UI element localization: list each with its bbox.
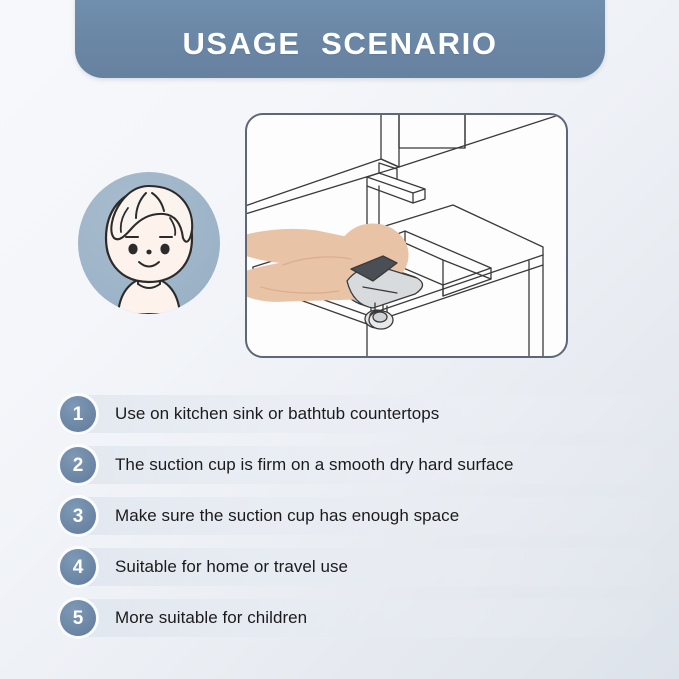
list-item: 4 Suitable for home or travel use [0, 545, 679, 589]
list-number-badge: 1 [60, 396, 96, 432]
header-banner: USAGE SCENARIO [75, 0, 605, 78]
list-item: 1 Use on kitchen sink or bathtub counter… [0, 392, 679, 436]
child-face-icon [78, 172, 220, 314]
usage-list: 1 Use on kitchen sink or bathtub counter… [0, 392, 679, 647]
avatar [78, 172, 220, 314]
illustration-panel [245, 113, 568, 358]
usage-scenario-infographic: USAGE SCENARIO [0, 0, 679, 679]
page-title: USAGE SCENARIO [182, 26, 497, 62]
list-item-text: Use on kitchen sink or bathtub counterto… [115, 404, 439, 424]
list-item-text: The suction cup is firm on a smooth dry … [115, 455, 514, 475]
list-number-badge: 2 [60, 447, 96, 483]
list-item-text: Make sure the suction cup has enough spa… [115, 506, 459, 526]
list-number-badge: 3 [60, 498, 96, 534]
list-item-text: Suitable for home or travel use [115, 557, 348, 577]
list-item-text: More suitable for children [115, 608, 307, 628]
list-item: 2 The suction cup is firm on a smooth dr… [0, 443, 679, 487]
list-item: 3 Make sure the suction cup has enough s… [0, 494, 679, 538]
kitchen-sink-illustration [247, 115, 566, 356]
list-item: 5 More suitable for children [0, 596, 679, 640]
list-number-badge: 5 [60, 600, 96, 636]
list-number-badge: 4 [60, 549, 96, 585]
